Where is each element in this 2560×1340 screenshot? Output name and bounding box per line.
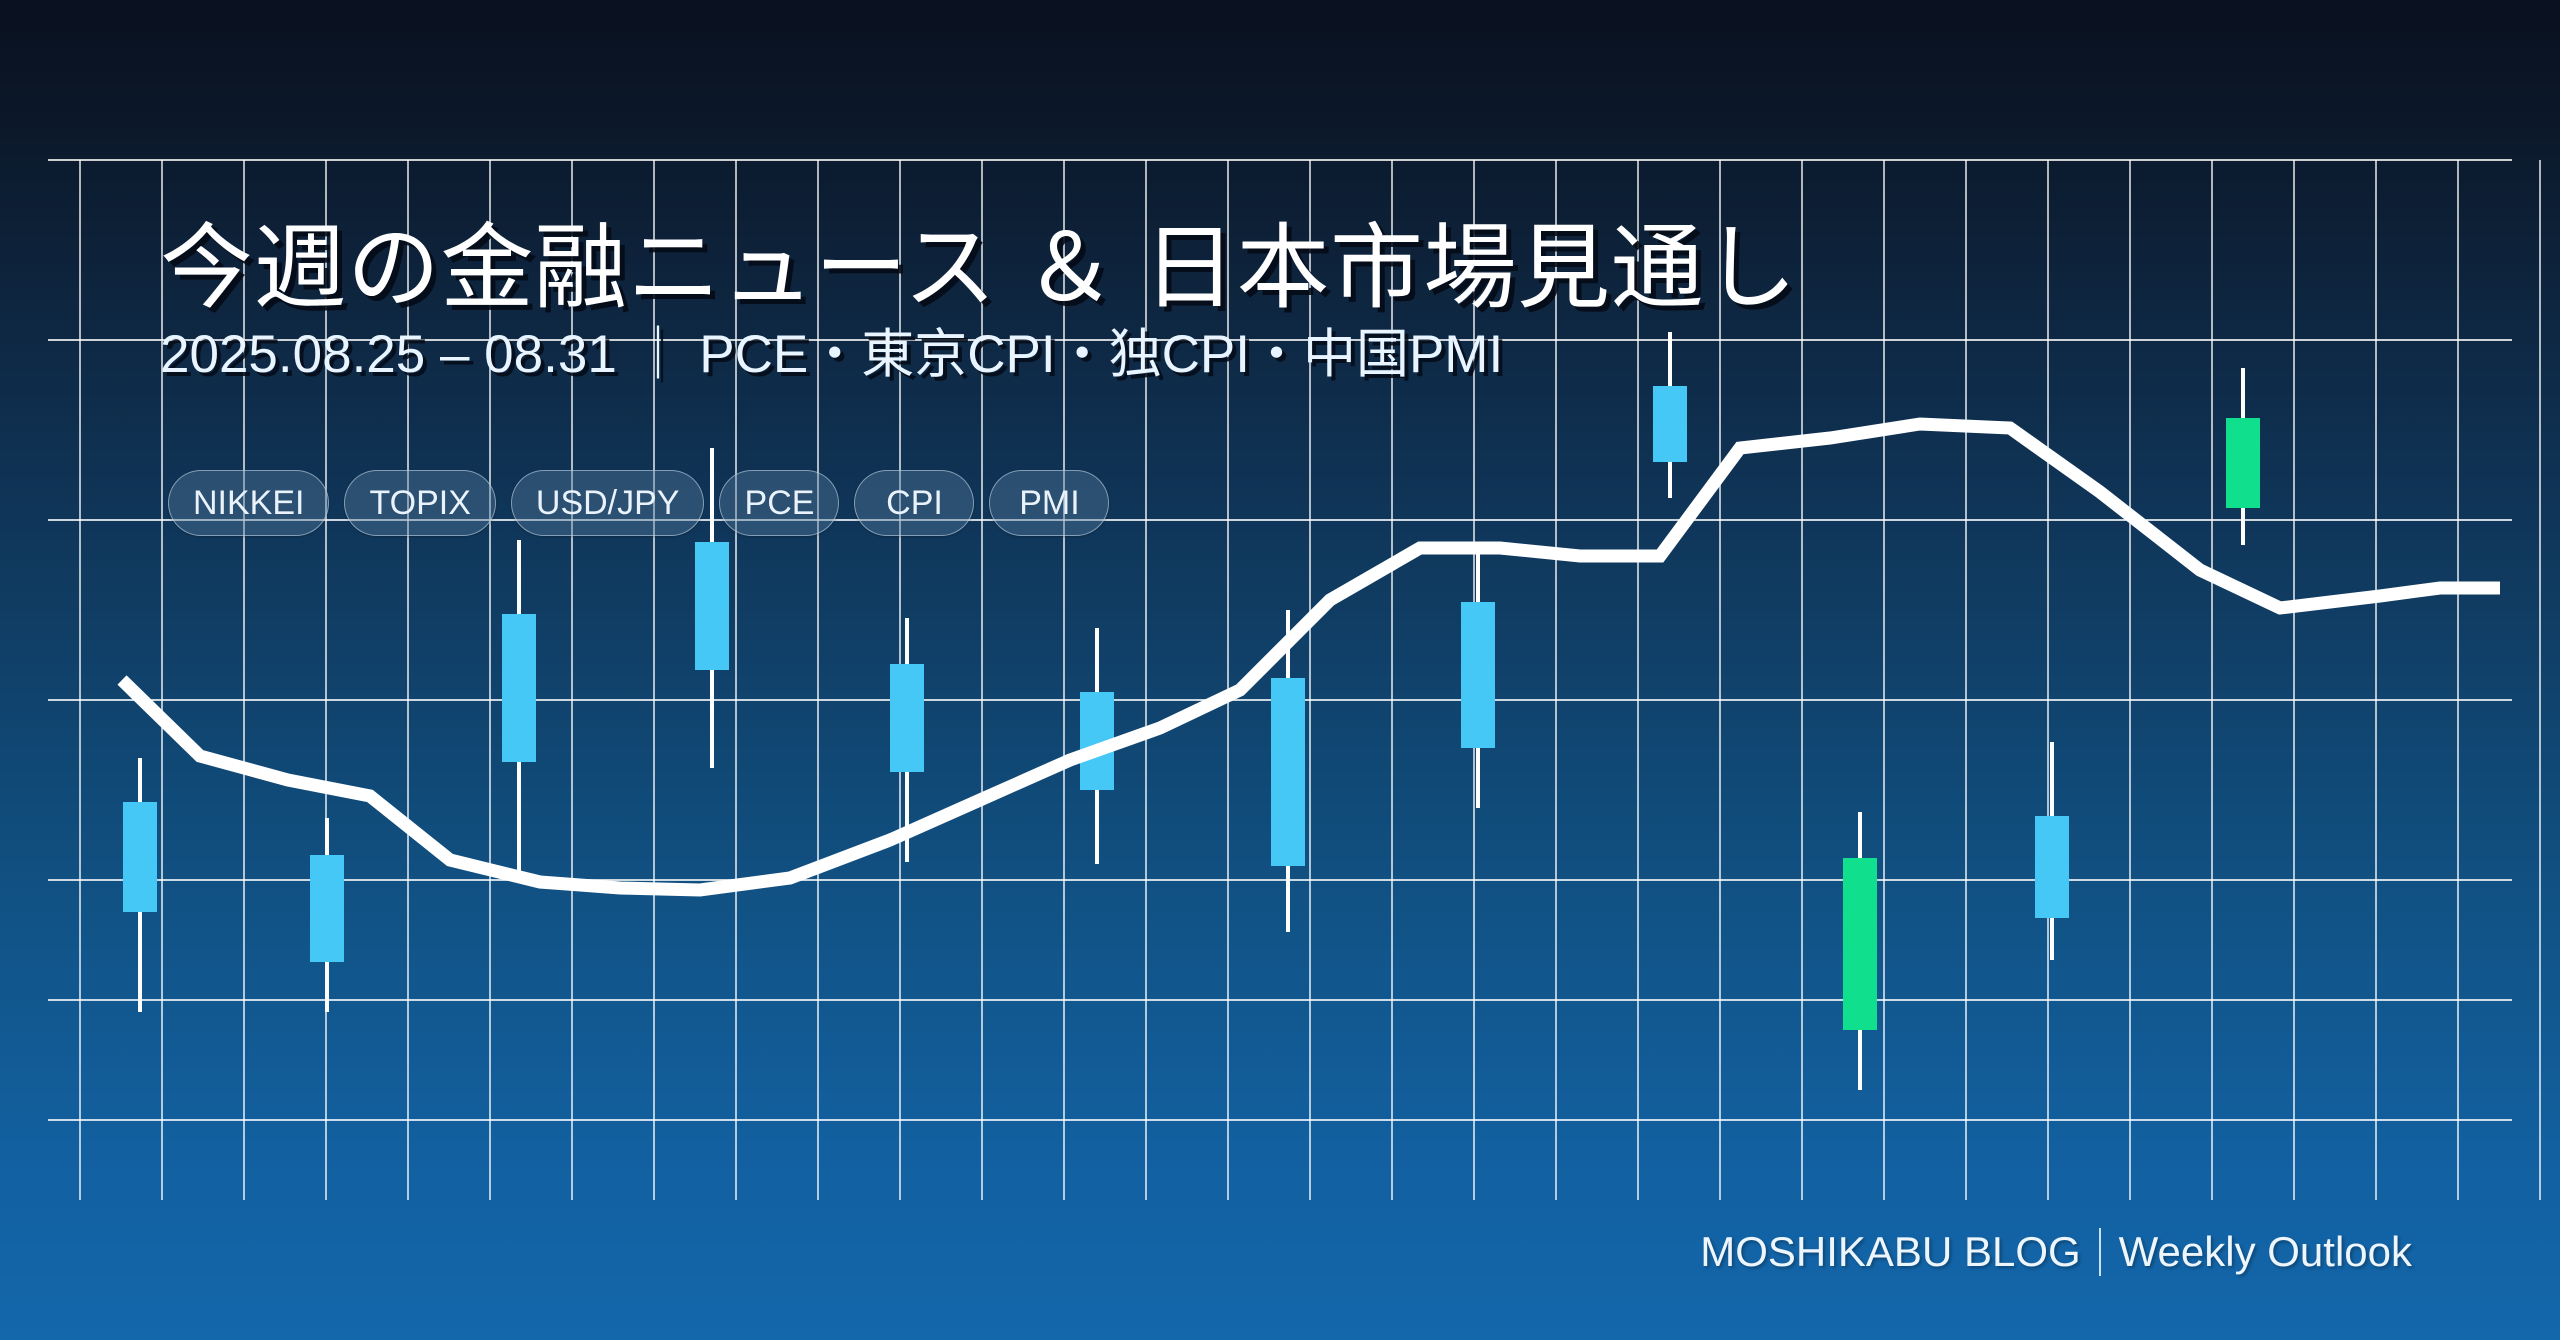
- candle-body: [502, 614, 536, 762]
- candle-body: [2035, 816, 2069, 918]
- candle-body: [1271, 678, 1305, 866]
- candle-body: [890, 664, 924, 772]
- tag-pill-topix[interactable]: TOPIX: [344, 470, 495, 536]
- candle-body: [1843, 858, 1877, 1030]
- candle-body: [310, 855, 344, 962]
- candle-body: [1653, 386, 1687, 462]
- poster-canvas: 今週の金融ニュース ＆ 日本市場見通し 2025.08.25 – 08.31 ｜…: [0, 0, 2560, 1340]
- candle-body: [695, 542, 729, 670]
- tag-pill-usd-jpy[interactable]: USD/JPY: [511, 470, 705, 536]
- footer-divider-icon: [2099, 1228, 2101, 1276]
- tag-pill-pce[interactable]: PCE: [719, 470, 839, 536]
- footer-bar: MOSHIKABU BLOG Weekly Outlook: [1700, 1228, 2412, 1276]
- candlestick-chart: [0, 0, 2560, 1340]
- tag-pill-nikkei[interactable]: NIKKEI: [168, 470, 329, 536]
- tag-pill-pmi[interactable]: PMI: [989, 470, 1109, 536]
- candle-body: [1461, 602, 1495, 748]
- candle-body: [123, 802, 157, 912]
- tag-pill-label: TOPIX: [369, 484, 470, 523]
- tag-pill-label: CPI: [886, 484, 943, 523]
- tag-pill-label: PMI: [1019, 484, 1079, 523]
- tag-pill-cpi[interactable]: CPI: [854, 470, 974, 536]
- tag-pill-row: NIKKEITOPIXUSD/JPYPCECPIPMI: [168, 470, 1109, 536]
- footer-brand: MOSHIKABU BLOG: [1700, 1228, 2080, 1276]
- tag-pill-label: NIKKEI: [193, 484, 304, 523]
- tag-pill-label: PCE: [745, 484, 815, 523]
- candle-body: [2226, 418, 2260, 508]
- footer-tagline: Weekly Outlook: [2119, 1228, 2412, 1276]
- tag-pill-label: USD/JPY: [536, 484, 680, 523]
